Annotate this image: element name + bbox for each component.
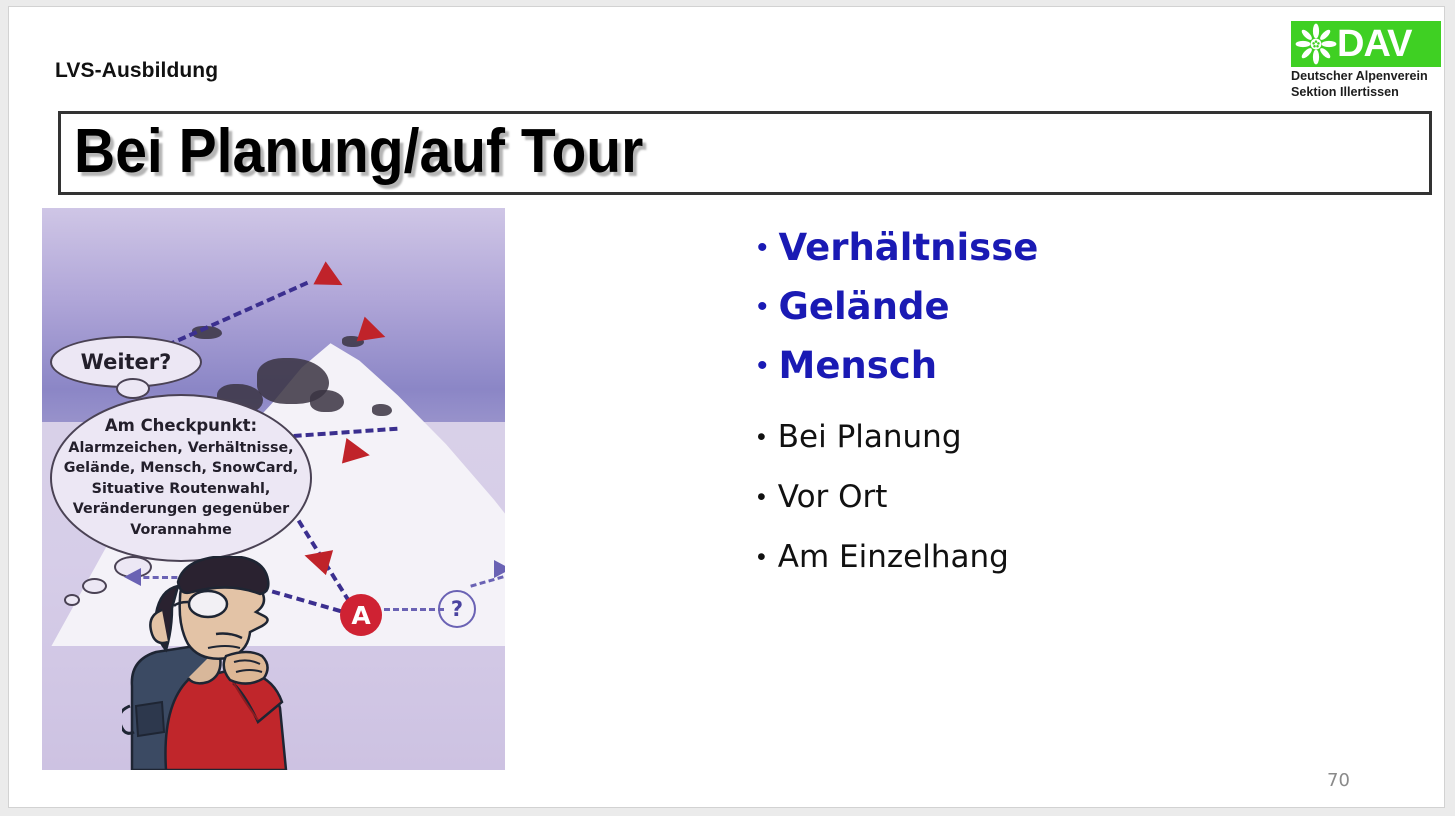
thought-bubble-tail xyxy=(116,378,150,399)
thought-bubble-tail xyxy=(64,594,80,606)
slide-canvas: LVS-Ausbildung xyxy=(8,6,1445,808)
checkpoint-line: Vorannahme xyxy=(130,520,232,541)
ski-tourer-figure xyxy=(122,556,352,770)
secondary-bullet-group: • Bei Planung • Vor Ort • Am Einzelhang xyxy=(757,417,1397,577)
content-bullets: • Verhältnisse • Gelände • Mensch • Bei … xyxy=(757,225,1397,597)
bullet-label: Verhältnisse xyxy=(779,225,1039,271)
route-arrow-right xyxy=(384,608,444,611)
thought-bubble-weiter-text: Weiter? xyxy=(81,350,172,374)
primary-bullet-group: • Verhältnisse • Gelände • Mensch xyxy=(757,225,1397,389)
checkpoint-line: Situative Routenwahl, xyxy=(92,479,271,500)
bullet-dot-icon: • xyxy=(757,477,766,517)
dav-logo-subtitle: Deutscher Alpenverein Sektion Illertisse… xyxy=(1291,69,1446,100)
page-title: Bei Planung/auf Tour xyxy=(74,109,643,195)
checkpoint-line: Alarmzeichen, Verhältnisse, xyxy=(68,438,293,459)
bullet-dot-icon: • xyxy=(757,343,768,389)
list-item: • Gelände xyxy=(757,284,1397,330)
bullet-label: Bei Planung xyxy=(778,417,962,457)
slide-title-box: Bei Planung/auf Tour xyxy=(58,111,1432,195)
list-item: • Am Einzelhang xyxy=(757,537,1397,577)
page-number: 70 xyxy=(1327,770,1350,791)
bullet-dot-icon: • xyxy=(757,537,766,577)
rock-patch xyxy=(310,390,344,412)
bullet-label: Vor Ort xyxy=(778,477,888,517)
bullet-dot-icon: • xyxy=(757,417,766,457)
question-marker-right: ? xyxy=(438,590,476,628)
checkpoint-line: Gelände, Mensch, SnowCard, xyxy=(64,458,299,479)
bullet-label: Mensch xyxy=(779,343,938,389)
slide-header-label: LVS-Ausbildung xyxy=(55,59,218,83)
checkpoint-line: Veränderungen gegenüber xyxy=(73,499,289,520)
arrow-head-right xyxy=(494,560,505,578)
dav-logo-text: DAV xyxy=(1337,23,1411,65)
dav-org-name: Deutscher Alpenverein xyxy=(1291,69,1446,85)
dav-section-name: Sektion Illertissen xyxy=(1291,85,1446,101)
danger-marker xyxy=(342,438,372,468)
thought-bubble-tail xyxy=(82,578,107,594)
position-marker-a-text: A xyxy=(351,601,370,630)
list-item: • Verhältnisse xyxy=(757,225,1397,271)
rock-patch xyxy=(372,404,392,416)
bullet-label: Gelände xyxy=(779,284,950,330)
edelweiss-icon xyxy=(1295,23,1337,65)
bullet-dot-icon: • xyxy=(757,284,768,330)
list-item: • Vor Ort xyxy=(757,477,1397,517)
dav-logo: DAV Deutscher Alpenverein Sektion Illert… xyxy=(1286,21,1446,103)
checkpoint-title: Am Checkpunkt: xyxy=(105,416,257,437)
tour-illustration: Weiter? Am Checkpunkt: Alarmzeichen, Ver… xyxy=(42,208,505,770)
dav-logo-mark: DAV xyxy=(1291,21,1441,67)
bullet-dot-icon: • xyxy=(757,225,768,271)
question-marker-right-text: ? xyxy=(451,597,463,621)
thought-bubble-checkpoint: Am Checkpunkt: Alarmzeichen, Verhältniss… xyxy=(50,394,312,562)
list-item: • Bei Planung xyxy=(757,417,1397,457)
bullet-label: Am Einzelhang xyxy=(778,537,1009,577)
list-item: • Mensch xyxy=(757,343,1397,389)
